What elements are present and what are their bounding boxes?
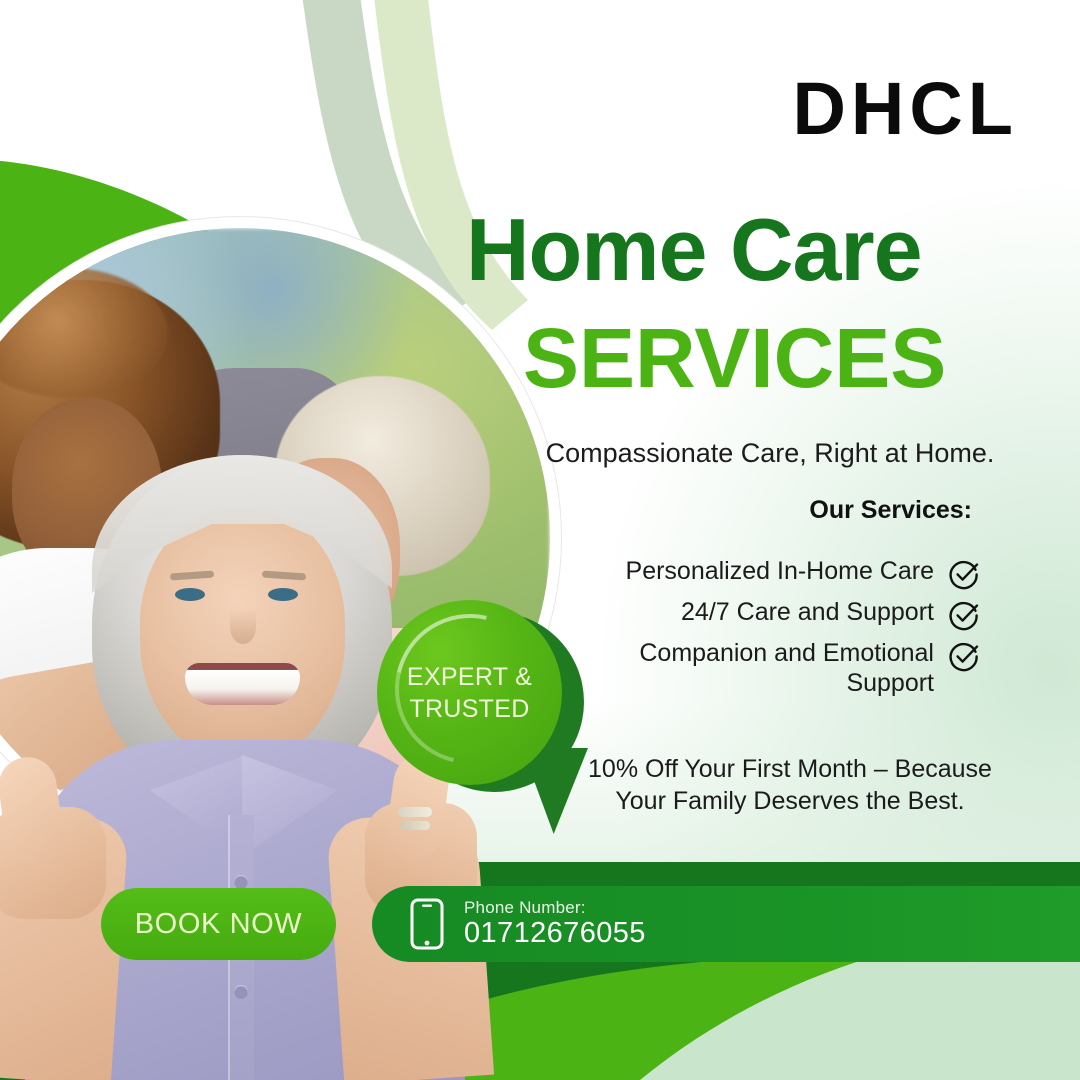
phone-number[interactable]: 01712676055 [464,918,646,949]
woman-smile [185,663,300,705]
phone-label: Phone Number: [464,899,646,917]
headline-line-1: Home Care [466,206,922,294]
service-item: Companion and Emotional Support [520,638,980,699]
poster-canvas: EXPERT & TRUSTED DHCL Home Care SERVICES… [0,0,1080,1080]
service-label: Personalized In-Home Care [626,556,934,586]
expert-trusted-badge[interactable]: EXPERT & TRUSTED [372,598,587,833]
woman-shirt-button [234,985,248,999]
book-now-button[interactable]: BOOK NOW [101,888,336,960]
woman-eye-right [268,588,298,601]
services-heading: Our Services: [809,496,972,525]
headline-line-2: SERVICES [523,316,946,400]
service-label: 24/7 Care and Support [681,597,934,627]
badge-text: EXPERT & TRUSTED [407,661,532,725]
smartphone-icon [410,898,444,950]
woman-shirt-button [234,875,248,889]
services-list: Personalized In-Home Care 24/7 Care and … [520,556,980,706]
tagline: Compassionate Care, Right at Home. [520,438,1020,469]
phone-text-block: Phone Number: 01712676055 [464,899,646,949]
woman-eye-left [175,588,205,601]
badge-circle: EXPERT & TRUSTED [377,600,562,785]
woman-thumb-up-left [0,753,67,868]
check-circle-icon [948,640,980,672]
check-circle-icon [948,599,980,631]
brand-logo-text: DHCL [792,66,1018,151]
woman-nose [230,610,256,644]
service-item: 24/7 Care and Support [520,597,980,631]
badge-line-1: EXPERT & [407,663,532,691]
phone-contact-bar[interactable]: Phone Number: 01712676055 [372,886,1080,962]
service-item: Personalized In-Home Care [520,556,980,590]
service-label: Companion and Emotional Support [579,638,934,699]
promo-offer-text: 10% Off Your First Month – Because Your … [560,754,1020,818]
check-circle-icon [948,558,980,590]
badge-line-2: TRUSTED [409,695,529,723]
